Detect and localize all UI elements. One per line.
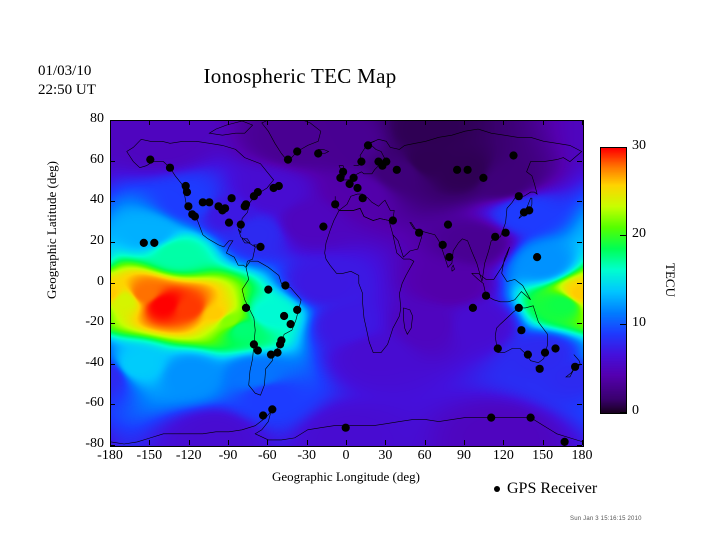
x-tick-mark — [149, 120, 150, 125]
page-title: Ionospheric TEC Map — [0, 64, 600, 89]
gps-receiver-dot — [250, 340, 258, 348]
y-tick-mark — [577, 161, 582, 162]
x-tick-mark — [543, 120, 544, 125]
x-tick-mark — [543, 440, 544, 445]
y-tick-mark — [577, 364, 582, 365]
gps-receiver-dot — [293, 306, 301, 314]
x-tick-mark — [464, 440, 465, 445]
gps-receiver-dot — [350, 174, 358, 182]
gps-receiver-dot — [509, 151, 517, 159]
y-tick-label: 60 — [58, 152, 104, 168]
gps-receiver-dot — [502, 229, 510, 237]
gps-receiver-dot — [254, 188, 262, 196]
colorbar-tick-mark — [620, 412, 626, 413]
y-tick-mark — [577, 404, 582, 405]
y-tick-label: -20 — [58, 314, 104, 330]
dot-icon — [494, 486, 500, 492]
x-tick-mark — [189, 120, 190, 125]
gps-receiver-dot — [319, 223, 327, 231]
y-tick-label: 0 — [58, 274, 104, 290]
gps-receiver-dot — [353, 184, 361, 192]
gps-receiver-dot — [242, 200, 250, 208]
x-tick-mark — [464, 120, 465, 125]
x-tick-mark — [307, 440, 308, 445]
gps-receiver-dot — [469, 304, 477, 312]
gps-receiver-dot — [277, 336, 285, 344]
gps-receiver-dot — [140, 239, 148, 247]
colorbar — [600, 147, 627, 414]
colorbar-tick-mark — [620, 147, 626, 148]
y-tick-mark — [110, 404, 115, 405]
tec-map-plot — [110, 120, 584, 447]
x-tick-mark — [346, 440, 347, 445]
gps-receiver-dot — [515, 192, 523, 200]
gps-receiver-dot — [393, 166, 401, 174]
colorbar-tick-mark — [620, 324, 626, 325]
render-timestamp: Sun Jan 3 15:16:15 2010 — [570, 516, 642, 522]
gps-receiver-dot — [357, 158, 365, 166]
y-tick-mark — [577, 283, 582, 284]
colorbar-gradient — [601, 148, 626, 413]
colorbar-title: TECU — [662, 250, 678, 310]
y-tick-mark — [110, 364, 115, 365]
gps-receiver-dot — [415, 229, 423, 237]
legend: GPS Receiver — [494, 480, 597, 498]
gps-receiver-dot — [382, 158, 390, 166]
x-tick-mark — [307, 120, 308, 125]
gps-receiver-dot — [191, 212, 199, 220]
y-tick-mark — [577, 201, 582, 202]
gps-receiver-dot — [166, 164, 174, 172]
y-tick-mark — [110, 323, 115, 324]
gps-receiver-dot — [225, 219, 233, 227]
y-tick-label: -80 — [58, 436, 104, 452]
gps-receiver-dot — [561, 438, 569, 446]
x-tick-mark — [503, 440, 504, 445]
y-tick-mark — [577, 323, 582, 324]
x-tick-mark — [228, 120, 229, 125]
gps-receiver-dot — [275, 182, 283, 190]
gps-receiver-dot — [444, 221, 452, 229]
gps-receiver-markers — [111, 121, 583, 446]
y-axis-title: Geographic Latitude (deg) — [44, 120, 60, 340]
gps-receiver-dot — [389, 216, 397, 224]
gps-receiver-dot — [237, 221, 245, 229]
x-tick-mark — [582, 120, 583, 125]
gps-receiver-dot — [527, 414, 535, 422]
gps-receiver-dot — [533, 253, 541, 261]
colorbar-tick-label: 20 — [632, 226, 646, 242]
gps-receiver-dot — [221, 204, 229, 212]
gps-receiver-dot — [256, 243, 264, 251]
gps-receiver-dot — [524, 351, 532, 359]
y-tick-label: -60 — [58, 395, 104, 411]
gps-receiver-dot — [464, 166, 472, 174]
gps-receiver-dot — [268, 405, 276, 413]
y-tick-mark — [577, 445, 582, 446]
gps-receiver-dot — [482, 292, 490, 300]
gps-receiver-dot — [314, 149, 322, 157]
gps-receiver-dot — [228, 194, 236, 202]
y-tick-mark — [577, 242, 582, 243]
x-tick-mark — [267, 440, 268, 445]
x-tick-mark — [385, 120, 386, 125]
gps-receiver-dot — [146, 156, 154, 164]
gps-receiver-dot — [287, 320, 295, 328]
gps-receiver-dot — [551, 344, 559, 352]
gps-receiver-dot — [453, 166, 461, 174]
gps-receiver-dot — [479, 174, 487, 182]
x-tick-mark — [503, 120, 504, 125]
gps-receiver-dot — [264, 286, 272, 294]
gps-receiver-dot — [517, 326, 525, 334]
gps-receiver-dot — [281, 281, 289, 289]
x-tick-mark — [267, 120, 268, 125]
x-tick-mark — [425, 440, 426, 445]
gps-receiver-dot — [205, 198, 213, 206]
colorbar-tick-mark — [620, 235, 626, 236]
gps-receiver-dot — [293, 147, 301, 155]
gps-receiver-dot — [359, 194, 367, 202]
gps-receiver-dot — [183, 188, 191, 196]
gps-receiver-dot — [280, 312, 288, 320]
gps-receiver-dot — [331, 200, 339, 208]
y-tick-mark — [110, 242, 115, 243]
y-tick-mark — [110, 120, 115, 121]
y-tick-mark — [577, 120, 582, 121]
y-tick-mark — [110, 445, 115, 446]
y-tick-mark — [110, 201, 115, 202]
y-tick-mark — [110, 161, 115, 162]
legend-label: GPS Receiver — [507, 480, 597, 498]
gps-receiver-dot — [284, 156, 292, 164]
gps-receiver-dot — [445, 253, 453, 261]
y-tick-label: -40 — [58, 355, 104, 371]
colorbar-tick-label: 10 — [632, 315, 646, 331]
gps-receiver-dot — [184, 202, 192, 210]
colorbar-tick-label: 30 — [632, 138, 646, 154]
x-tick-mark — [228, 440, 229, 445]
x-tick-mark — [346, 120, 347, 125]
gps-receiver-dot — [439, 241, 447, 249]
gps-receiver-dot — [339, 168, 347, 176]
gps-receiver-dot — [242, 304, 250, 312]
x-tick-mark — [149, 440, 150, 445]
gps-receiver-dot — [494, 344, 502, 352]
gps-receiver-dot — [525, 206, 533, 214]
gps-receiver-dot — [536, 365, 544, 373]
x-tick-mark — [582, 440, 583, 445]
y-tick-label: 80 — [58, 111, 104, 127]
x-tick-mark — [425, 120, 426, 125]
y-tick-label: 20 — [58, 233, 104, 249]
gps-receiver-dot — [273, 349, 281, 357]
gps-receiver-dot — [150, 239, 158, 247]
gps-receiver-dot — [541, 349, 549, 357]
x-tick-mark — [385, 440, 386, 445]
y-tick-mark — [110, 283, 115, 284]
y-tick-label: 40 — [58, 192, 104, 208]
gps-receiver-dot — [487, 414, 495, 422]
colorbar-tick-label: 0 — [632, 403, 639, 419]
gps-receiver-dot — [515, 304, 523, 312]
x-tick-mark — [189, 440, 190, 445]
gps-receiver-dot — [342, 424, 350, 432]
gps-receiver-dot — [259, 411, 267, 419]
gps-receiver-dot — [491, 233, 499, 241]
x-tick-label: 180 — [552, 448, 612, 464]
gps-receiver-dot — [364, 141, 372, 149]
